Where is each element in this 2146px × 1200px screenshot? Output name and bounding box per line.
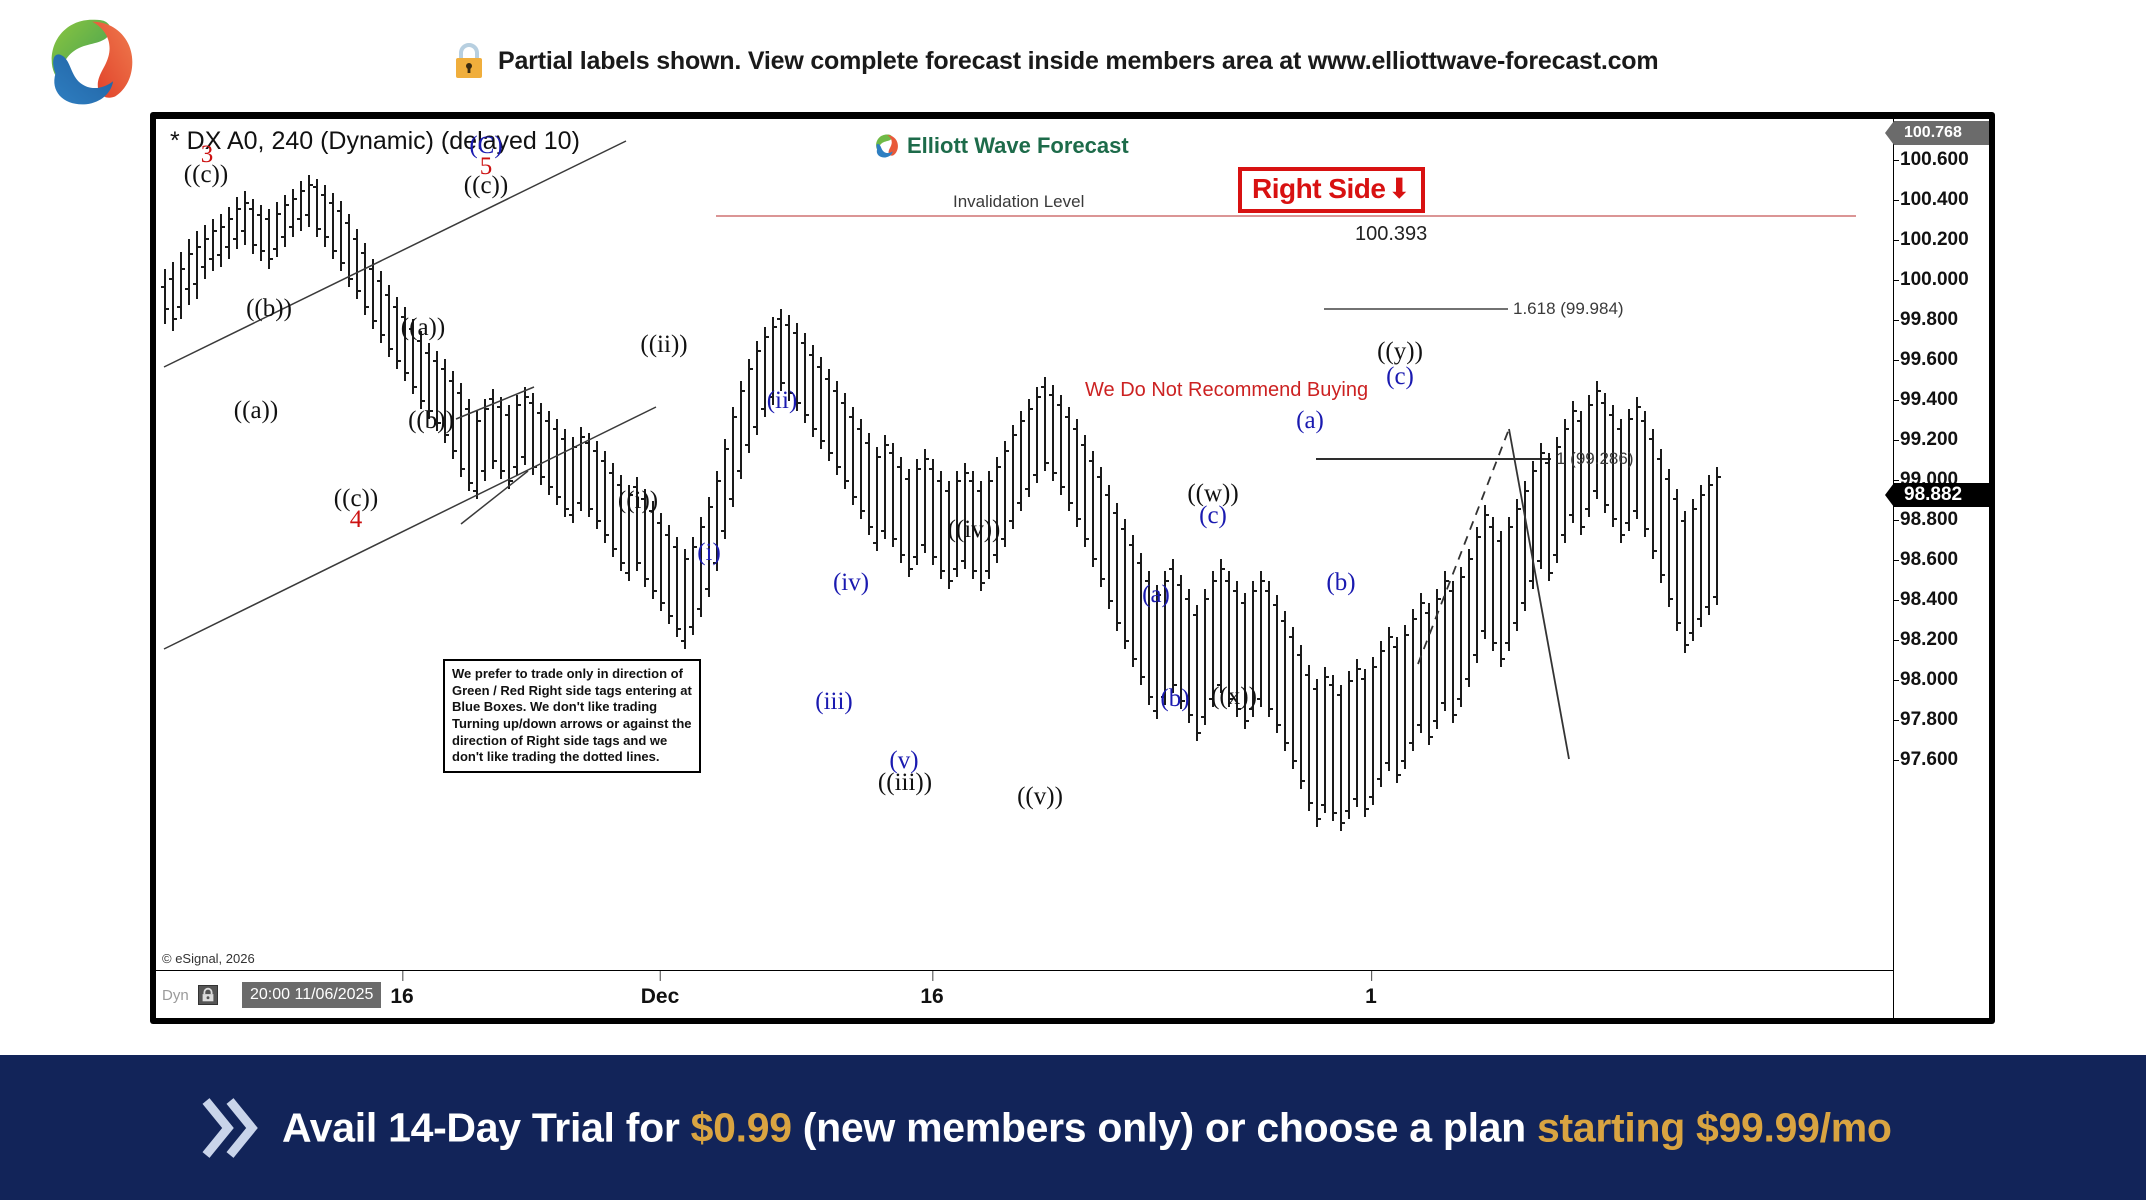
wave-label-iii: (iii) <box>815 688 853 716</box>
price-tick-98400: 98.400 <box>1900 589 1958 611</box>
price-tick-98800: 98.800 <box>1900 509 1958 531</box>
lock-small-icon[interactable] <box>198 985 218 1005</box>
wave-label-bb-1: ((b)) <box>246 295 292 323</box>
price-tick-99400: 99.400 <box>1900 389 1958 411</box>
banner-text: Avail 14-Day Trial for $0.99 (new member… <box>282 1104 1892 1151</box>
wave-label-v-dbl: ((v)) <box>1017 783 1063 811</box>
last-price-value: 98.882 <box>1904 484 1962 506</box>
fib-1618-label: 1.618 (99.984) <box>1513 299 1624 319</box>
banner-part-2: (new members only) or choose a plan <box>792 1104 1537 1150</box>
wave-label-ii-dbl: ((ii)) <box>640 331 687 359</box>
minor-trendline-a <box>456 387 534 419</box>
down-arrow-icon: ⬇ <box>1387 175 1410 203</box>
price-tick-98600: 98.600 <box>1900 549 1958 571</box>
price-tick-98200: 98.200 <box>1900 629 1958 651</box>
time-tick-16b: 16 <box>920 985 943 1009</box>
trading-disclaimer-text: We prefer to trade only in direction of … <box>452 666 692 766</box>
price-tick-100200: 100.200 <box>1900 229 1969 251</box>
wave-label-b-2: (b) <box>1326 569 1355 597</box>
wave-label-iii-dbl: ((iii)) <box>878 769 932 797</box>
invalidation-label: Invalidation Level <box>953 192 1084 212</box>
double-chevron-right-icon <box>202 1097 260 1159</box>
dyn-mode-label: Dyn <box>162 987 189 1004</box>
wave-label-aa-2: ((a)) <box>401 314 445 342</box>
promo-text: Partial labels shown. View complete fore… <box>498 47 1658 76</box>
banner-part-1: Avail 14-Day Trial for <box>282 1104 691 1150</box>
esignal-copyright: © eSignal, 2026 <box>162 951 255 966</box>
price-tick-100000: 100.000 <box>1900 269 1969 291</box>
wave-label-4: 4 <box>350 506 363 534</box>
wave-label-y-dbl: ((y)) <box>1377 338 1423 366</box>
forecast-dashed-up <box>1418 429 1509 664</box>
price-tick-100400: 100.400 <box>1900 189 1969 211</box>
wave-label-iv-dbl: ((iv)) <box>948 516 1001 544</box>
wave-label-b-1: (b) <box>1160 685 1189 713</box>
wave-label-i: (i) <box>697 539 721 567</box>
forecast-solid-down <box>1509 429 1569 759</box>
price-tick-98000: 98.000 <box>1900 669 1958 691</box>
trading-disclaimer-box: We prefer to trade only in direction of … <box>443 659 701 773</box>
bottom-promo-banner[interactable]: Avail 14-Day Trial for $0.99 (new member… <box>0 1055 2146 1200</box>
wave-label-aa-1: ((a)) <box>234 397 278 425</box>
invalidation-value: 100.393 <box>1355 223 1427 246</box>
cursor-time-readout: 20:00 11/06/2025 <box>242 982 381 1008</box>
plot-area[interactable]: 3 ((c)) ((b)) ((a)) ((c)) 4 ((a)) ((b)) … <box>156 119 1893 970</box>
lower-channel-line <box>164 407 656 649</box>
banner-price-plan: starting $99.99/mo <box>1537 1104 1892 1150</box>
fib-1-label: 1 (99.286) <box>1556 449 1634 469</box>
time-axis[interactable]: Dyn 20:00 11/06/2025 16 Dec 16 1 <box>156 970 1893 1018</box>
wave-label-a-2: (a) <box>1296 407 1324 435</box>
right-side-badge[interactable]: Right Side ⬇ <box>1238 167 1425 213</box>
price-high-value: 100.768 <box>1904 124 1962 142</box>
time-tick-1: 1 <box>1365 985 1377 1009</box>
price-series-svg <box>156 119 1893 935</box>
last-price-marker: 98.882 <box>1894 483 1989 507</box>
price-tick-99600: 99.600 <box>1900 349 1958 371</box>
price-axis[interactable]: 100.768 100.600 100.400 100.200 100.000 … <box>1893 119 1989 1018</box>
chart-canvas[interactable]: * DX A0, 240 (Dynamic) (delayed 10) Elli… <box>156 119 1989 1018</box>
price-tick-100600: 100.600 <box>1900 149 1969 171</box>
time-tick-16a: 16 <box>390 985 413 1009</box>
banner-price-trial: $0.99 <box>691 1104 792 1150</box>
wave-label-c-2: (c) <box>1386 363 1414 391</box>
lock-icon <box>452 42 486 80</box>
upper-channel-line <box>164 141 626 367</box>
wave-label-x-dbl: ((x)) <box>1211 683 1257 711</box>
chart-window[interactable]: * DX A0, 240 (Dynamic) (delayed 10) Elli… <box>150 112 1995 1024</box>
promo-message: Partial labels shown. View complete fore… <box>452 42 1658 80</box>
top-promo-bar: Partial labels shown. View complete fore… <box>0 0 2146 110</box>
right-side-label: Right Side <box>1252 173 1385 205</box>
wave-label-c-1: (c) <box>1199 502 1227 530</box>
ewf-swirl-logo <box>44 14 140 110</box>
price-tick-99800: 99.800 <box>1900 309 1958 331</box>
price-high-marker: 100.768 <box>1894 121 1989 145</box>
price-tick-99200: 99.200 <box>1900 429 1958 451</box>
price-tick-97600: 97.600 <box>1900 749 1958 771</box>
time-tick-dec: Dec <box>641 985 680 1009</box>
wave-label-bb-2: ((b)) <box>408 407 454 435</box>
wave-label-iv: (iv) <box>833 569 869 597</box>
wave-label-a-1: (a) <box>1142 581 1170 609</box>
wave-label-ii: (ii) <box>767 387 798 415</box>
wave-label-cc-1: ((c)) <box>184 161 228 189</box>
wave-label-i-dbl: ((i)) <box>618 487 658 515</box>
no-buy-note: We Do Not Recommend Buying <box>1085 379 1368 402</box>
wave-label-cc-3: ((c)) <box>464 172 508 200</box>
price-tick-97800: 97.800 <box>1900 709 1958 731</box>
